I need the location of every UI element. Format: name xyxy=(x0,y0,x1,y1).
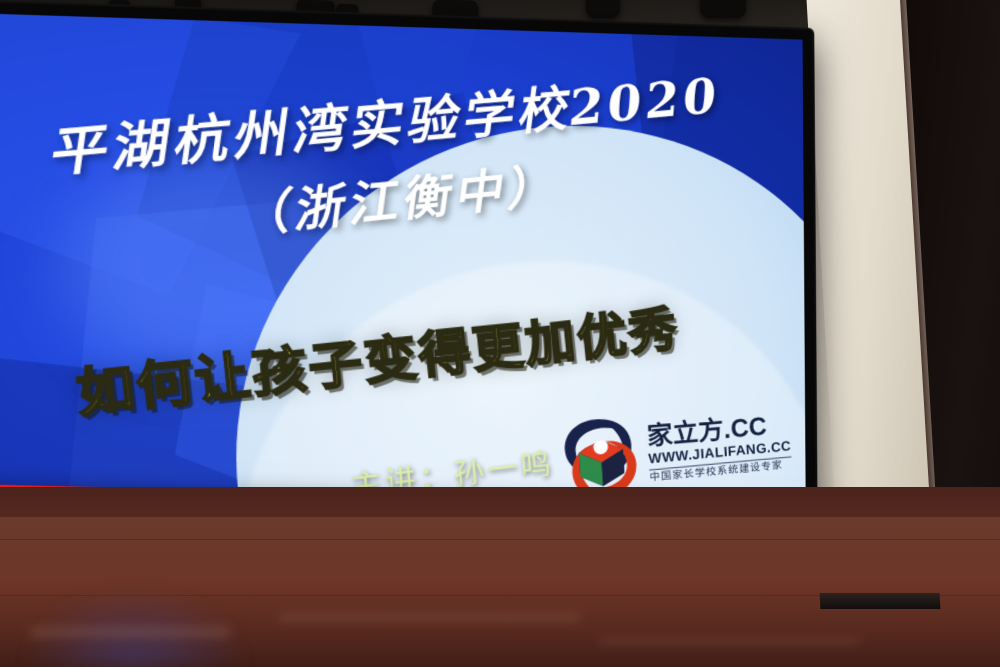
led-display-screen[interactable]: 平湖杭州湾实验学校2020 （浙江衡中） 如何让孩子变得更加优秀 主讲：孙一鸣 xyxy=(0,2,816,570)
auditorium-scene: 平湖杭州湾实验学校2020 （浙江衡中） 如何让孩子变得更加优秀 主讲：孙一鸣 xyxy=(0,0,1000,667)
floor-seam xyxy=(0,539,1000,540)
stage-light xyxy=(700,0,746,18)
presentation-slide: 平湖杭州湾实验学校2020 （浙江衡中） 如何让孩子变得更加优秀 主讲：孙一鸣 xyxy=(0,14,806,558)
pillar-base-trim xyxy=(820,593,941,609)
floor-highlight xyxy=(29,627,231,637)
screen-panel: 平湖杭州湾实验学校2020 （浙江衡中） 如何让孩子变得更加优秀 主讲：孙一鸣 xyxy=(0,14,806,558)
stage-light xyxy=(586,0,620,18)
floor-highlight xyxy=(599,637,860,645)
floor-highlight xyxy=(279,614,580,621)
jialifang-brand-text: 家立方.CC WWW.JIALIFANG.CC 中国家长学校系统建设专家 xyxy=(646,413,792,484)
